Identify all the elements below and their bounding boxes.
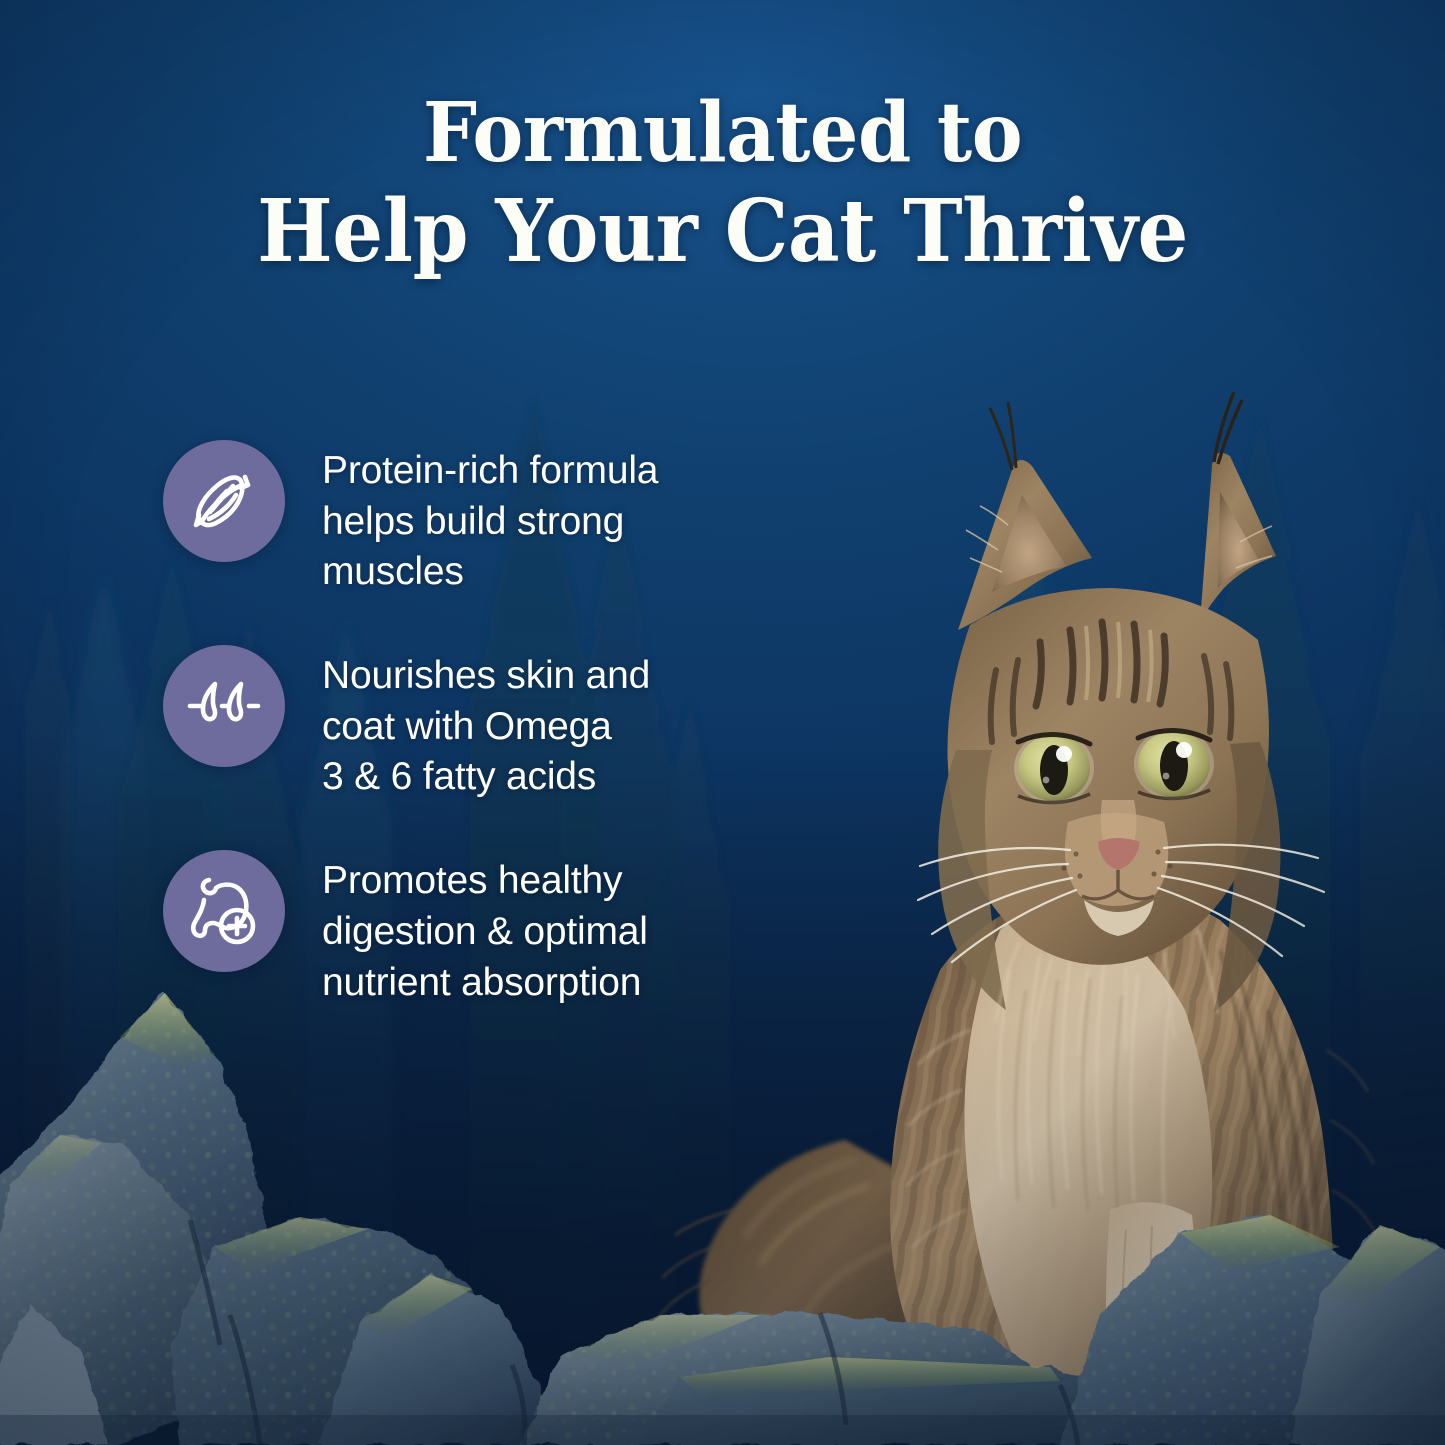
- page-title: Formulated to Help Your Cat Thrive: [51, 86, 1395, 283]
- headline-line-2: Help Your Cat Thrive: [51, 182, 1395, 283]
- feature-line: Protein-rich formula: [322, 449, 658, 492]
- feature-line: 3 & 6 fatty acids: [322, 755, 596, 798]
- feature-line: Promotes healthy: [322, 859, 622, 902]
- feature-line: helps build strong: [322, 500, 624, 543]
- headline-line-1: Formulated to: [51, 86, 1395, 182]
- feature-line: nutrient absorption: [322, 961, 641, 1004]
- feature-text-skin-coat: Nourishes skin and coat with Omega 3 & 6…: [322, 645, 650, 803]
- feature-line: muscles: [322, 550, 464, 593]
- feature-line: digestion & optimal: [322, 910, 648, 953]
- hair-follicle-icon: [185, 667, 263, 745]
- muscle-icon: [186, 463, 262, 539]
- feature-line: Nourishes skin and: [322, 654, 650, 697]
- feature-item-digestion: Promotes healthy digestion & optimal nut…: [163, 850, 723, 1008]
- feature-icon-badge: [163, 645, 285, 767]
- feature-item-skin-coat: Nourishes skin and coat with Omega 3 & 6…: [163, 645, 723, 803]
- feature-list: Protein-rich formula helps build strong …: [163, 440, 723, 1008]
- stomach-plus-icon: [185, 872, 263, 950]
- feature-text-protein: Protein-rich formula helps build strong …: [322, 440, 658, 598]
- feature-icon-badge: [163, 440, 285, 562]
- feature-icon-badge: [163, 850, 285, 972]
- marketing-banner: Formulated to Help Your Cat Thrive: [0, 0, 1445, 1445]
- feature-line: coat with Omega: [322, 705, 612, 748]
- feature-text-digestion: Promotes healthy digestion & optimal nut…: [322, 850, 648, 1008]
- feature-item-protein: Protein-rich formula helps build strong …: [163, 440, 723, 598]
